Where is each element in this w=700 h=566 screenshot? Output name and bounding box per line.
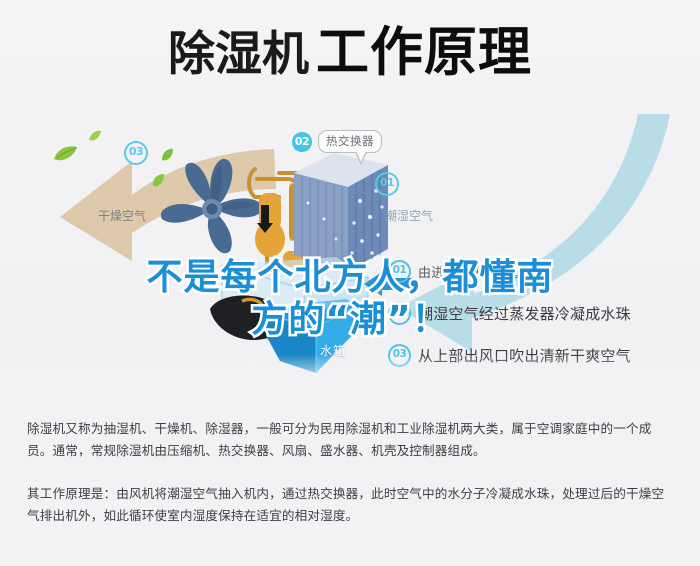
step-list: 01 由进风口吸入潮湿空气 02 潮湿空气经过蒸发器冷凝成水珠 03 从上部出风… [388, 254, 688, 380]
badge-heat-exchanger: 02 [292, 132, 312, 152]
paragraph-two: 其工作原理是：由风机将潮湿空气抽入机内，通过热交换器，此时空气中的水分子冷凝成水… [27, 483, 675, 526]
step-badge: 01 [388, 260, 411, 283]
paragraph-one: 除湿机又称为抽湿机、干燥机、除湿器，一般可分为民用除湿机和工业除湿机两大类，属于… [27, 418, 675, 461]
step-text: 由进风口吸入潮湿空气 [418, 262, 550, 281]
body-copy-block-two: 其工作原理是：由风机将潮湿空气抽入机内，通过热交换器，此时空气中的水分子冷凝成水… [27, 483, 675, 531]
label-dry-air: 干燥空气 [98, 207, 146, 224]
step-item: 02 潮湿空气经过蒸发器冷凝成水珠 [388, 296, 688, 330]
water-tank-label: 水箱 [320, 342, 346, 359]
badge-humid-air: 01 [375, 172, 399, 196]
bubble-heat-exchanger: 热交换器 [318, 130, 382, 153]
body-copy-block-one: 除湿机又称为抽湿机、干燥机、除湿器，一般可分为民用除湿机和工业除湿机两大类，属于… [27, 418, 675, 466]
step-item: 01 由进风口吸入潮湿空气 [388, 254, 688, 288]
step-item: 03 从上部出风口吹出清新干爽空气 [388, 338, 688, 372]
step-badge: 02 [388, 302, 411, 325]
leaf-icon [52, 145, 78, 167]
dehumidifier-shell [208, 255, 384, 380]
badge-dry-air: 03 [124, 141, 148, 165]
step-badge: 03 [388, 344, 411, 367]
step-text: 从上部出风口吹出清新干爽空气 [418, 345, 631, 366]
infographic-page: 除湿机工作原理 [0, 0, 700, 566]
dehumidifier-diagram: 水箱 03 干燥空气 02 热交换器 01 潮湿空气 01 由进风口吸入潮湿空气… [0, 115, 700, 400]
label-humid-air: 潮湿空气 [385, 207, 433, 224]
step-text: 潮湿空气经过蒸发器冷凝成水珠 [418, 303, 631, 324]
title-part-one: 除湿机 [168, 27, 309, 82]
page-title: 除湿机工作原理 [0, 26, 700, 79]
title-part-two: 工作原理 [316, 22, 532, 83]
leaf-icon [88, 127, 102, 146]
title-band: 除湿机工作原理 [0, 0, 700, 118]
